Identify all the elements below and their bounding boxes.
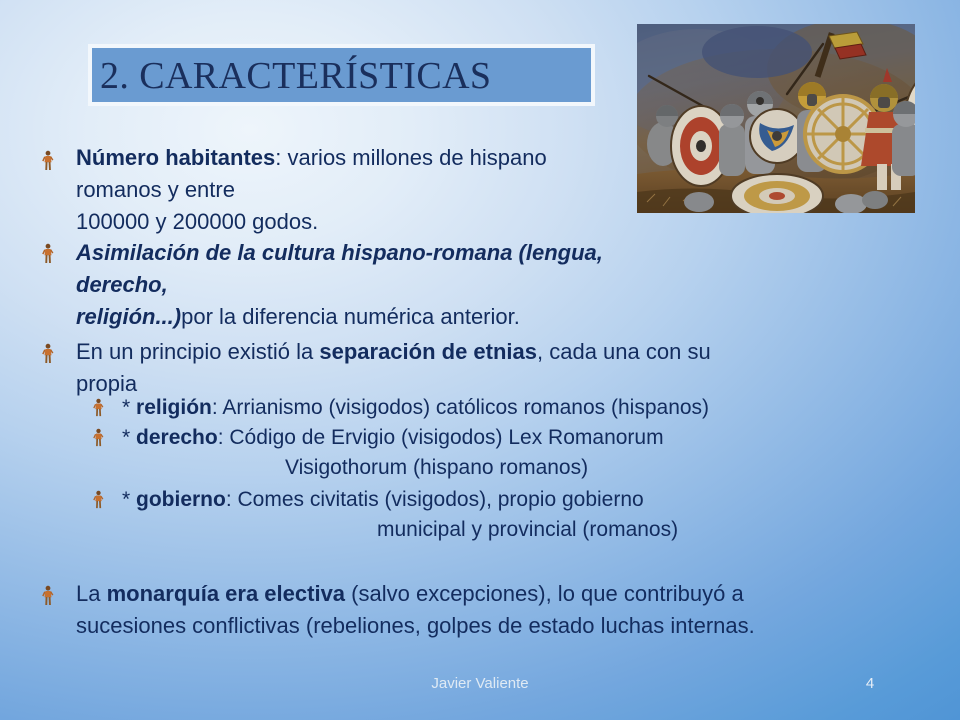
bullet-7-pre: La xyxy=(76,581,107,606)
bullet-3-pre: En un principio existió la xyxy=(76,339,319,364)
subbullet-derecho-marker: * xyxy=(122,426,136,449)
subbullet-derecho-line2: Visigothorum (hispano romanos) xyxy=(122,453,912,483)
subbullet-gobierno-rest: : Comes civitatis (visigodos), propio go… xyxy=(226,488,644,511)
subbullet-gobierno-line2: municipal y provincial (romanos) xyxy=(122,515,912,545)
bullet-2-bolditalic-line2: religión...) xyxy=(76,304,181,329)
footer-author: Javier Valiente xyxy=(0,675,960,692)
warrior-figure-icon xyxy=(92,428,106,450)
footer-page-number: 4 xyxy=(840,675,900,692)
subbullet-derecho: * derecho: Código de Ervigio (visigodos)… xyxy=(122,423,912,483)
subbullet-religion-marker: * xyxy=(122,396,136,419)
bullet-1-bold: Número habitantes xyxy=(76,145,275,170)
subbullet-gobierno-bold: gobierno xyxy=(136,488,226,511)
subbullet-gobierno-marker: * xyxy=(122,488,136,511)
subbullet-gobierno: * gobierno: Comes civitatis (visigodos),… xyxy=(122,485,912,545)
bullet-asimilacion-cultura: Asimilación de la cultura hispano-romana… xyxy=(76,237,676,333)
subbullet-derecho-bold: derecho xyxy=(136,426,218,449)
bullet-7-bold: monarquía era electiva xyxy=(107,581,345,606)
warrior-figure-icon xyxy=(41,150,55,172)
warrior-figure-icon xyxy=(41,243,55,265)
subbullet-religion: * religión: Arrianismo (visigodos) catól… xyxy=(122,393,912,423)
warrior-figure-icon xyxy=(41,585,55,607)
bullet-2-bolditalic-line1: Asimilación de la cultura hispano-romana… xyxy=(76,240,603,297)
subbullet-derecho-rest: : Código de Ervigio (visigodos) Lex Roma… xyxy=(218,426,664,449)
bullet-numero-habitantes: Número habitantes: varios millones de hi… xyxy=(76,142,636,238)
bullet-separacion-etnias: En un principio existió la separación de… xyxy=(76,336,716,400)
warrior-figure-icon xyxy=(41,343,55,365)
bullet-3-post: , cada una con su xyxy=(537,339,711,364)
subbullet-religion-rest: : Arrianismo (visigodos) católicos roman… xyxy=(212,396,709,419)
subbullet-religion-bold: religión xyxy=(136,396,212,419)
bullet-1-line2: 100000 y 200000 godos. xyxy=(76,206,636,238)
warrior-figure-icon xyxy=(92,398,106,420)
bullet-7-post: (salvo excepciones), lo que contribuyó a xyxy=(345,581,744,606)
warrior-figure-icon xyxy=(92,490,106,512)
bullet-monarquia-electiva: La monarquía era electiva (salvo excepci… xyxy=(76,578,926,642)
bullet-7-line2: sucesiones conflictivas (rebeliones, gol… xyxy=(76,610,926,642)
slide: 2. CARACTERÍSTICAS xyxy=(0,0,960,720)
bullet-3-bold: separación de etnias xyxy=(319,339,537,364)
bullet-2-rest: por la diferencia numérica anterior. xyxy=(181,304,520,329)
slide-body: Número habitantes: varios millones de hi… xyxy=(0,0,960,668)
